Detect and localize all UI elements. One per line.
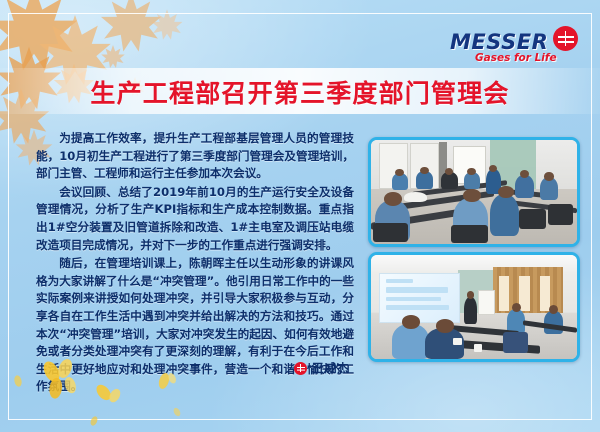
flower-petal-icon bbox=[34, 356, 90, 412]
flower-petal-icon bbox=[84, 412, 104, 432]
author-name: 王威杰 bbox=[312, 360, 350, 376]
maple-leaf-icon bbox=[150, 8, 184, 41]
flower-petal-icon bbox=[148, 366, 184, 404]
messer-logo: MESSER Gases for Life bbox=[450, 26, 578, 68]
article-signature: 王威杰 bbox=[294, 360, 350, 376]
article-paragraph: 会议回顾、总结了2019年前10月的生产运行安全及设备管理情况，分析了生产KPI… bbox=[36, 184, 354, 254]
training-room-photo bbox=[368, 252, 580, 362]
brand-name: MESSER bbox=[450, 30, 548, 54]
messer-circle-logo-icon bbox=[294, 362, 307, 375]
flower-petal-icon bbox=[168, 404, 186, 424]
page-title: 生产工程部召开第三季度部门管理会 bbox=[0, 74, 600, 110]
flower-petal-icon bbox=[6, 370, 30, 396]
bulletin-page: 生产工程部召开第三季度部门管理会 MESSER Gases for Life 为… bbox=[0, 0, 600, 432]
maple-leaf-icon bbox=[100, 44, 126, 69]
messer-circle-logo-icon bbox=[553, 26, 578, 51]
brand-tagline: Gases for Life bbox=[475, 52, 557, 64]
article-paragraph: 为提高工作效率，提升生产工程部基层管理人员的管理技能，10月初生产工程进行了第三… bbox=[36, 130, 354, 183]
meeting-room-photo bbox=[368, 137, 580, 247]
